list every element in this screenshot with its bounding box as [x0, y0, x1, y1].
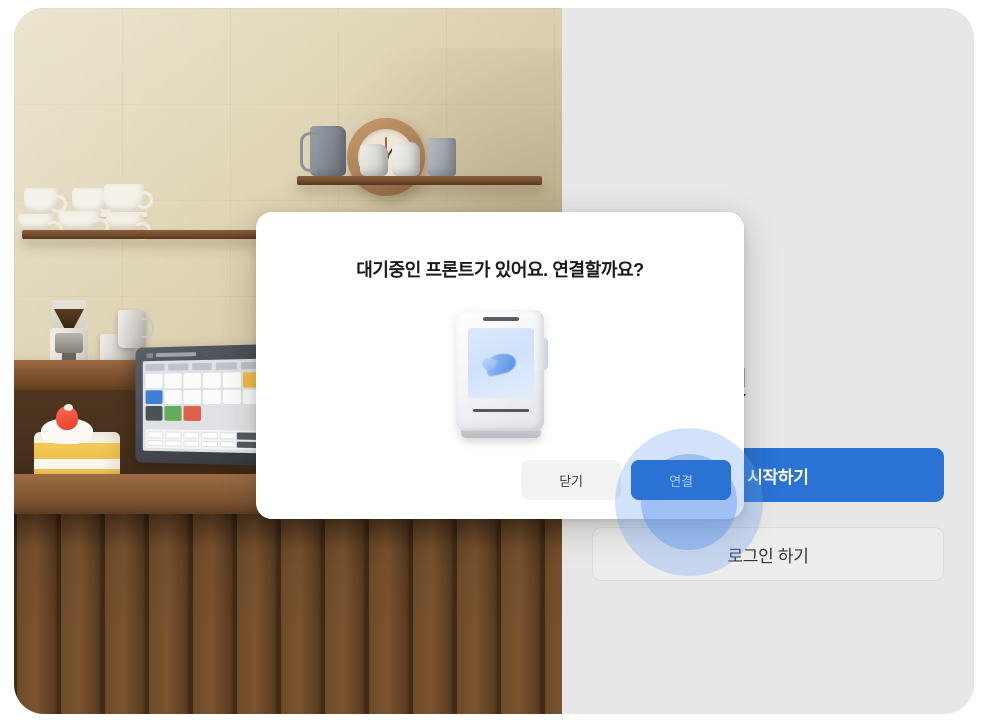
pos-menu-grid — [146, 372, 262, 421]
pos-tablet-screen — [143, 359, 265, 454]
pos-menu-tile — [164, 373, 181, 388]
terminal-body — [456, 310, 544, 431]
bar-counter-shadow — [14, 514, 562, 714]
cake-berry-highlight — [64, 404, 73, 411]
pos-menu-tile — [203, 406, 221, 421]
coffee-cup-4 — [58, 211, 102, 230]
milk-pitcher-small — [118, 310, 146, 348]
terminal-card-slot — [473, 409, 529, 412]
screenshot-stage: POS 결제까지 위한 모든 것 로 시작하기 로그인 하기 대기중인 프론트가… — [0, 0, 988, 722]
pos-keypad-area — [146, 429, 262, 450]
pos-menu-tile — [184, 390, 202, 405]
coffee-cup-1 — [24, 188, 60, 214]
pos-key — [220, 432, 237, 439]
modal-title: 대기중인 프론트가 있어요. 연결할까요? — [256, 256, 744, 282]
pos-key — [165, 440, 181, 447]
pos-key — [147, 440, 163, 447]
pos-category-tabs — [146, 362, 262, 371]
tablet-topbar — [143, 348, 265, 359]
grinder-burr — [55, 333, 83, 353]
terminal-top-slot — [483, 317, 519, 321]
tumbler-icon — [428, 138, 456, 176]
milk-pitcher-shelf-2 — [392, 142, 420, 176]
tablet-logo-icon — [147, 353, 154, 358]
pos-menu-tile — [223, 406, 241, 421]
terminal-side-button — [540, 338, 548, 370]
pos-menu-tile — [146, 406, 163, 420]
pos-key — [147, 431, 163, 438]
pos-tab — [192, 363, 212, 370]
pos-key — [165, 432, 181, 439]
pos-menu-tile — [223, 372, 241, 387]
pos-key — [183, 440, 199, 447]
pos-key — [201, 440, 218, 447]
pos-menu-tile — [146, 390, 163, 404]
kettle-handle — [300, 132, 317, 172]
pos-tablet — [135, 344, 273, 466]
pos-tab — [216, 362, 236, 369]
coffee-cup-2 — [18, 214, 56, 230]
coffee-cup-5 — [104, 184, 146, 212]
pos-menu-tile — [223, 389, 241, 404]
pos-key — [183, 432, 199, 439]
modal-close-button[interactable]: 닫기 — [521, 460, 621, 500]
pos-menu-tile — [203, 373, 221, 388]
pos-terminal-icon — [453, 310, 549, 438]
upper-shelf — [297, 176, 542, 185]
pos-menu-tile — [164, 390, 181, 405]
milk-pitcher-shelf-1 — [360, 144, 388, 176]
login-button[interactable]: 로그인 하기 — [592, 527, 944, 581]
pos-tab — [169, 363, 189, 370]
pos-menu-tile — [164, 406, 181, 421]
app-frame: POS 결제까지 위한 모든 것 로 시작하기 로그인 하기 대기중인 프론트가… — [14, 8, 974, 714]
pos-menu-tile — [203, 390, 221, 405]
pos-menu-tile — [146, 374, 163, 389]
lower-shelf — [22, 230, 258, 239]
pos-key — [220, 441, 237, 448]
modal-connect-button-highlighted[interactable]: 연결 — [631, 460, 731, 500]
pos-keypad — [147, 431, 236, 447]
pos-key — [201, 432, 218, 439]
terminal-screen — [468, 328, 534, 398]
pos-menu-tile — [184, 373, 202, 388]
pos-menu-tile — [184, 406, 202, 421]
terminal-base — [461, 430, 541, 438]
pos-tab — [146, 364, 165, 371]
tablet-brand-text — [156, 352, 196, 357]
coffee-cup-6 — [106, 215, 144, 229]
